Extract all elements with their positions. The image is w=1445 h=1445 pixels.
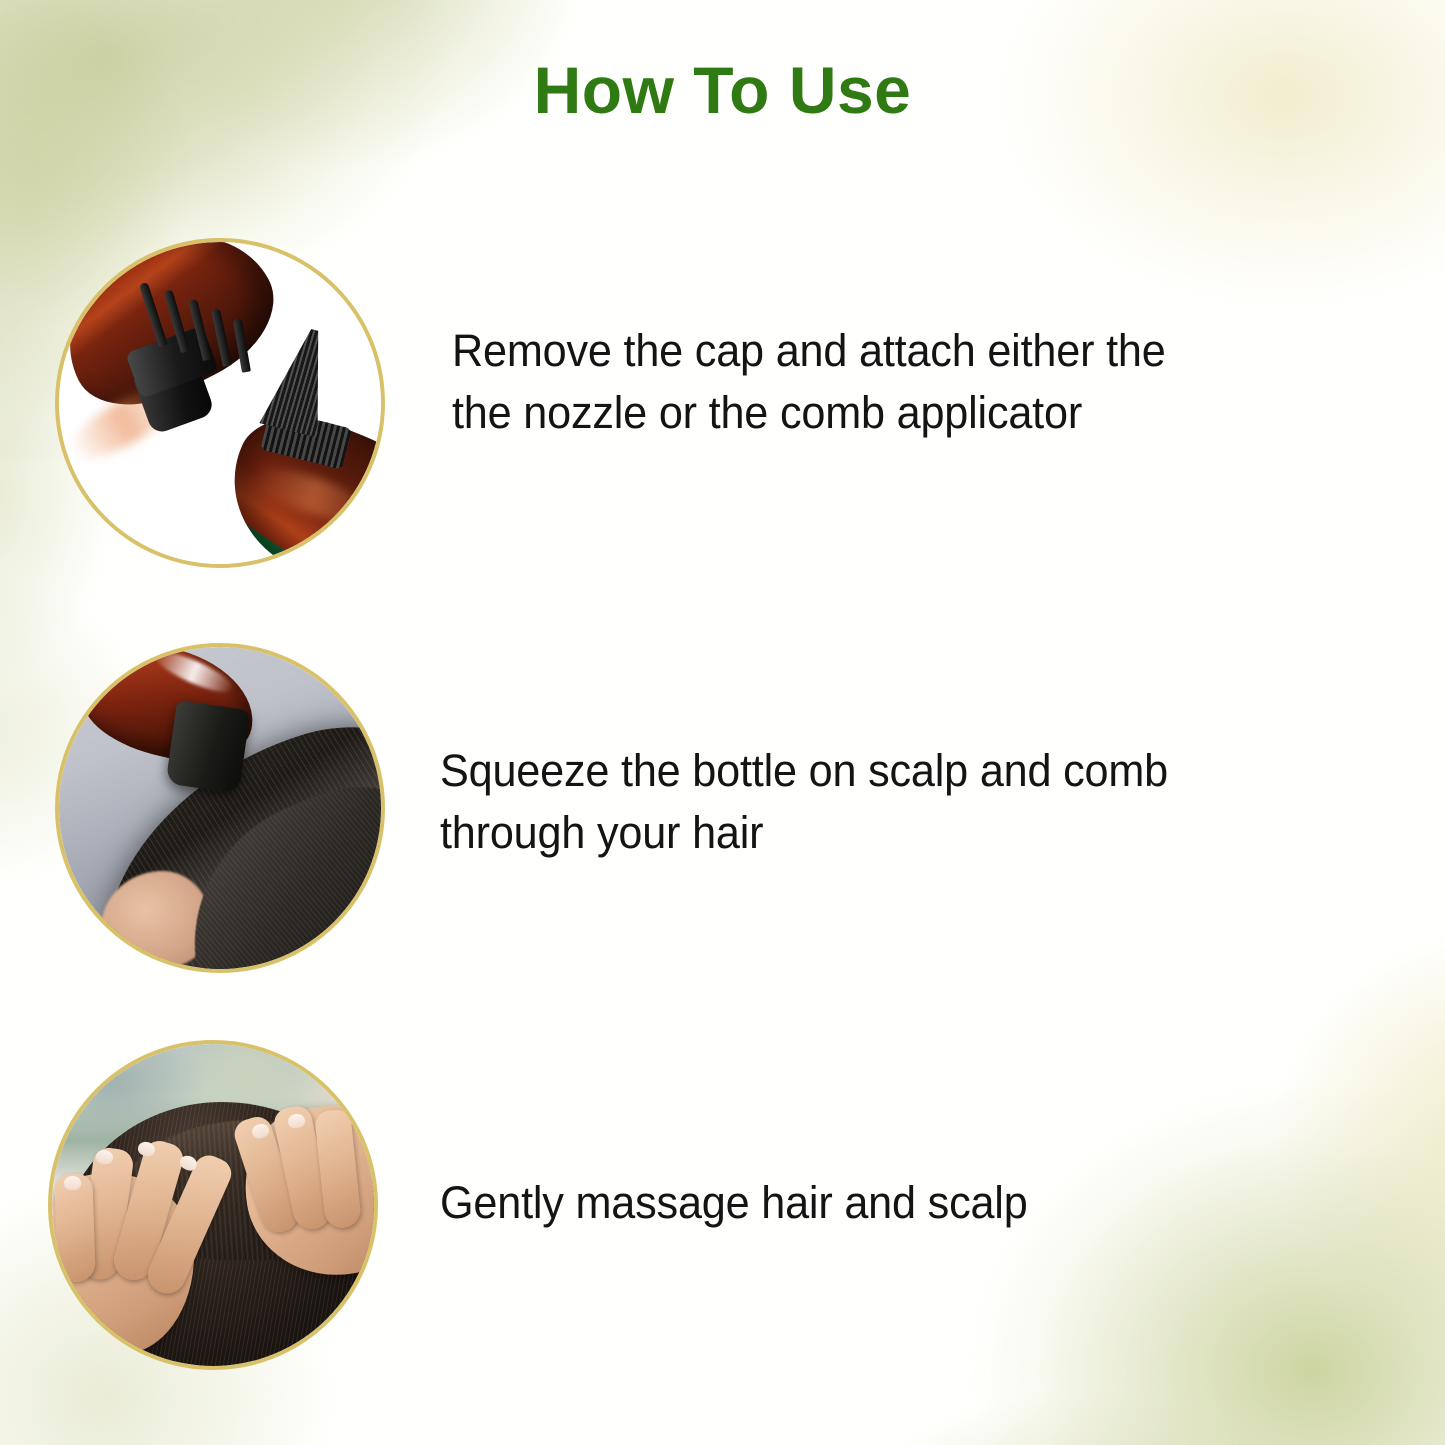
page-title: How To Use — [0, 52, 1445, 128]
step-2-instruction-text: Squeeze the bottle on scalp and comb thr… — [440, 740, 1294, 864]
watercolor-wash-top-right — [905, 0, 1445, 320]
hands-massaging-scalp-photo — [52, 1044, 374, 1366]
step-3-instruction-text: Gently massage hair and scalp — [440, 1172, 1294, 1234]
fingernail — [64, 1176, 81, 1191]
step-1-instruction-text: Remove the cap and attach either the the… — [452, 320, 1297, 444]
applicator-head — [166, 700, 251, 793]
step-1-image-circle — [55, 238, 385, 568]
bottles-with-comb-and-nozzle-applicators-photo — [59, 242, 381, 564]
how-to-use-infographic: How To Use — [0, 0, 1445, 1445]
step-2-image-circle — [55, 643, 385, 973]
nozzle-cone — [259, 322, 342, 437]
bottle-applied-to-scalp-parting-photo — [59, 647, 381, 969]
step-3-image-circle — [48, 1040, 378, 1370]
